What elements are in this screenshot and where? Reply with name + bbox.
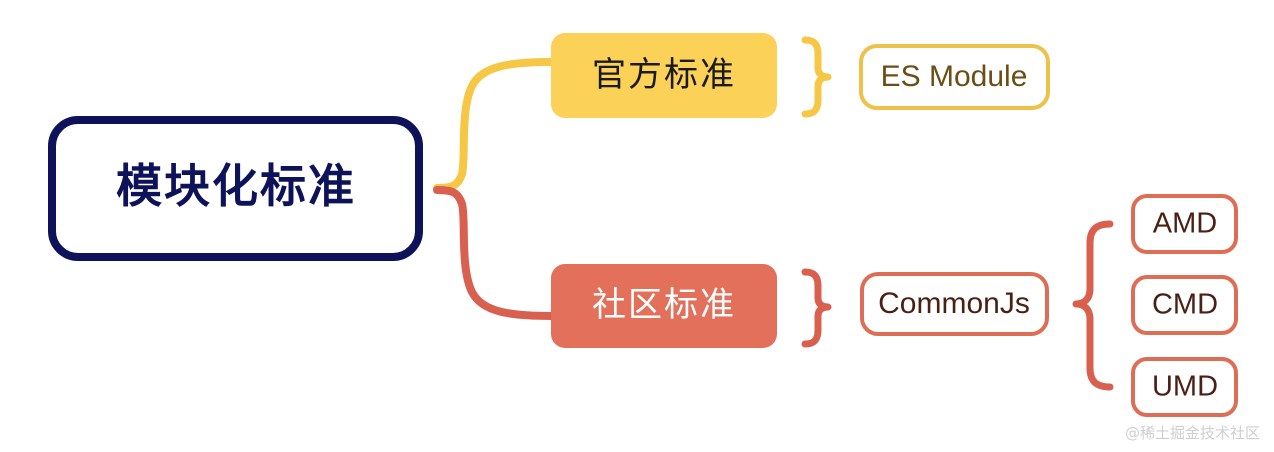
node-cmd-label: CMD	[1152, 289, 1218, 321]
mindmap-canvas: 模块化标准 官方标准 ES Module 社区标准 CommonJs AMD C…	[0, 0, 1274, 452]
node-official-label: 官方标准	[592, 56, 736, 94]
connector-commonjs-to-variants	[1076, 224, 1110, 387]
node-community-label: 社区标准	[592, 286, 736, 324]
node-es-module-label: ES Module	[881, 60, 1028, 93]
connector-root-to-community	[437, 190, 551, 316]
node-commonjs-label: CommonJs	[878, 287, 1030, 320]
node-umd[interactable]: UMD	[1133, 359, 1236, 415]
node-cmd[interactable]: CMD	[1133, 277, 1236, 333]
node-commonjs[interactable]: CommonJs	[862, 274, 1047, 334]
node-official[interactable]: 官方标准	[551, 33, 777, 118]
node-es-module[interactable]: ES Module	[861, 46, 1048, 108]
node-amd[interactable]: AMD	[1133, 196, 1236, 252]
node-amd-label: AMD	[1153, 208, 1217, 240]
node-umd-label: UMD	[1152, 371, 1218, 403]
node-community[interactable]: 社区标准	[551, 264, 777, 348]
node-root[interactable]: 模块化标准	[52, 120, 419, 257]
connector-community-to-commonjs	[805, 272, 828, 344]
watermark: @稀土掘金技术社区	[1125, 422, 1260, 443]
node-root-label: 模块化标准	[116, 160, 356, 212]
connector-root-to-official	[437, 62, 551, 188]
connector-official-to-es-module	[805, 40, 828, 114]
